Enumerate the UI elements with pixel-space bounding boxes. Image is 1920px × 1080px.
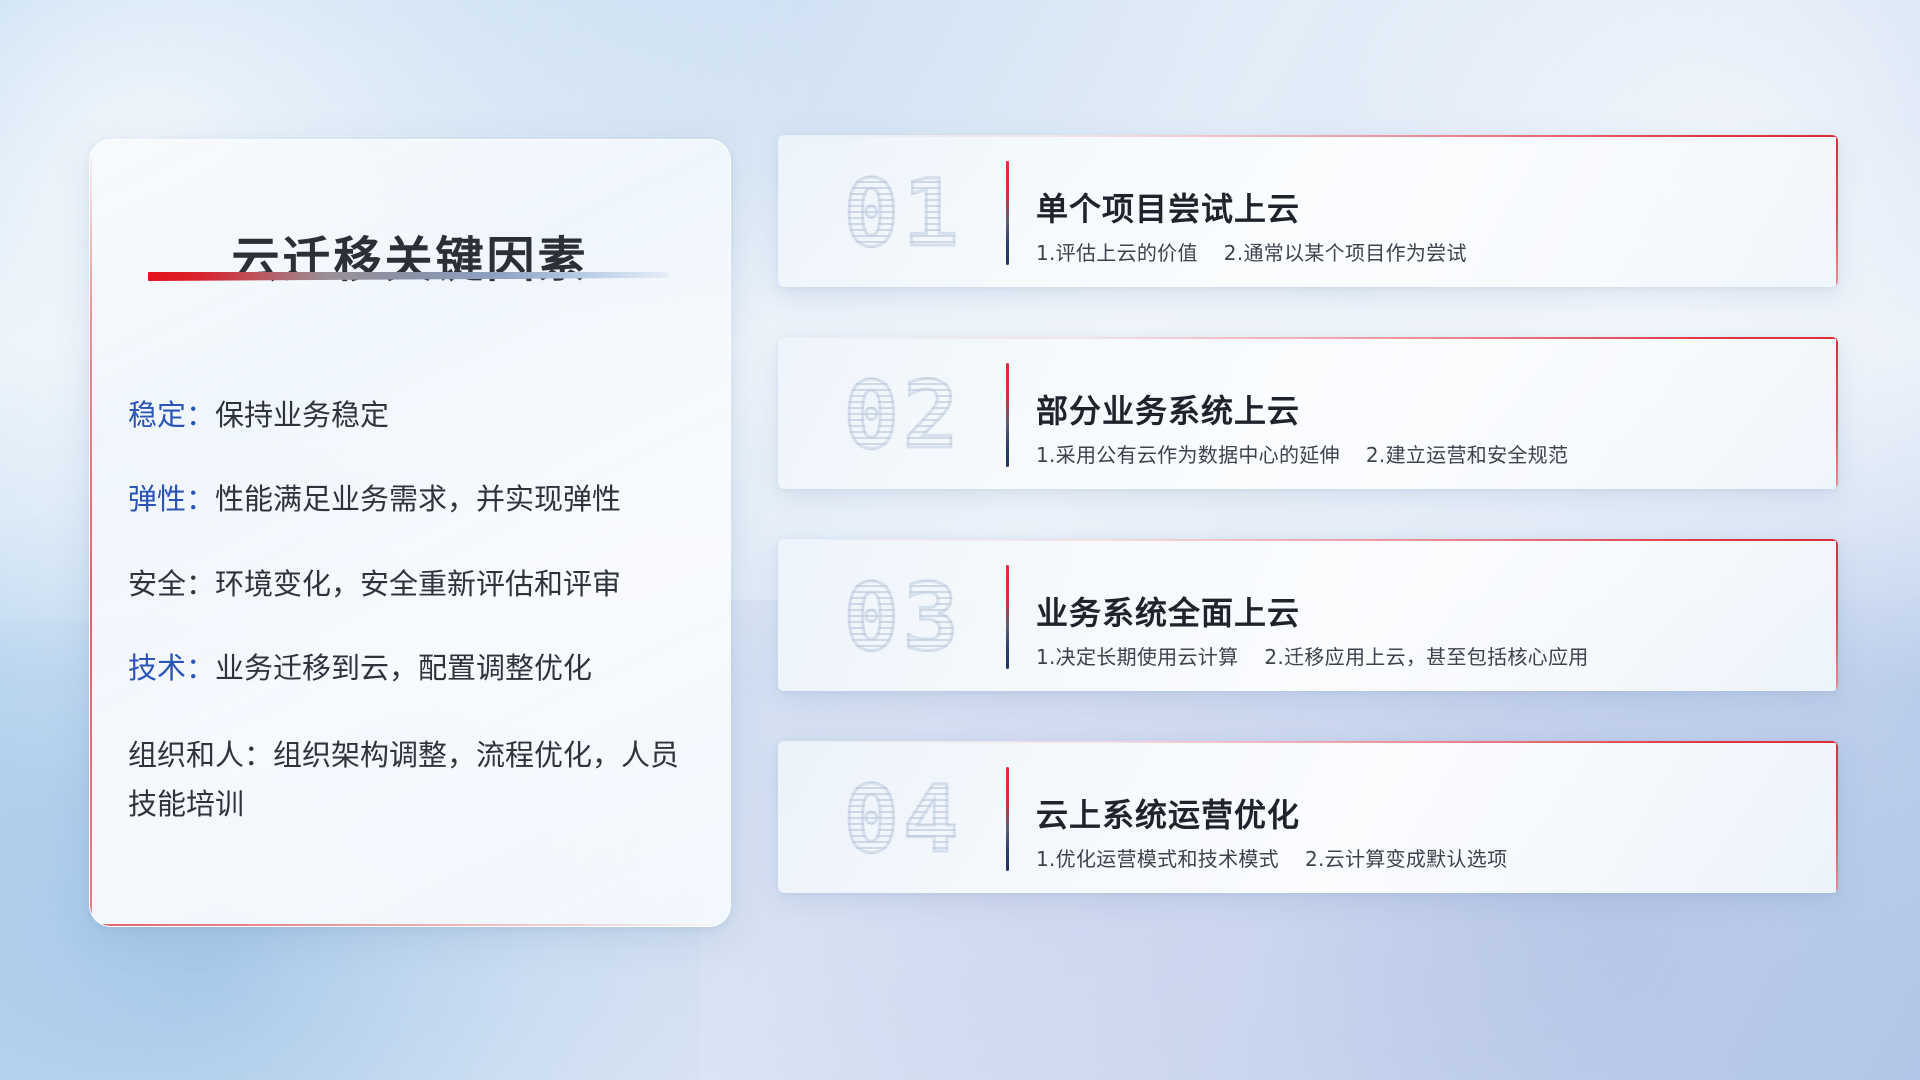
stage-number: 01: [808, 157, 998, 269]
stage-title: 单个项目尝试上云: [1036, 184, 1300, 230]
stage-divider-bar: [1006, 363, 1009, 467]
stage-point: 1.优化运营模式和技术模式: [1036, 847, 1279, 871]
key-factors-list: 稳定：保持业务稳定 弹性：性能满足业务需求，并实现弹性 安全：环境变化，安全重新…: [128, 365, 696, 871]
stage-number: 04: [808, 763, 998, 875]
stage-point: 2.通常以某个项目作为尝试: [1224, 241, 1467, 265]
migration-stages-list: 01 单个项目尝试上云 1.评估上云的价值2.通常以某个项目作为尝试 02 部分…: [778, 135, 1838, 943]
stage-card-03[interactable]: 03 业务系统全面上云 1.决定长期使用云计算2.迁移应用上云，甚至包括核心应用: [778, 539, 1838, 691]
stage-title: 云上系统运营优化: [1036, 790, 1300, 836]
list-item: 安全：环境变化，安全重新评估和评审: [128, 563, 696, 605]
stage-point: 1.采用公有云作为数据中心的延伸: [1036, 443, 1340, 467]
slide-stage: 云迁移关键因素 稳定：保持业务稳定 弹性：性能满足业务需求，并实现弹性 安全：环…: [0, 0, 1920, 1080]
stage-card-02[interactable]: 02 部分业务系统上云 1.采用公有云作为数据中心的延伸2.建立运营和安全规范: [778, 337, 1838, 489]
factor-label: 弹性：: [128, 482, 215, 516]
factor-text: 保持业务稳定: [215, 398, 389, 432]
key-factors-panel: 云迁移关键因素 稳定：保持业务稳定 弹性：性能满足业务需求，并实现弹性 安全：环…: [89, 139, 731, 927]
stage-point: 2.建立运营和安全规范: [1366, 443, 1568, 467]
list-item: 弹性：性能满足业务需求，并实现弹性: [128, 478, 696, 520]
stage-title: 部分业务系统上云: [1036, 386, 1300, 432]
stage-number: 03: [808, 561, 998, 673]
stage-description: 1.评估上云的价值2.通常以某个项目作为尝试: [1036, 237, 1808, 266]
list-item: 组织和人：组织架构调整，流程优化，人员技能培训: [128, 731, 696, 828]
factor-label: 技术：: [128, 651, 215, 685]
stage-point: 2.云计算变成默认选项: [1305, 847, 1507, 871]
stage-card-04[interactable]: 04 云上系统运营优化 1.优化运营模式和技术模式2.云计算变成默认选项: [778, 741, 1838, 893]
stage-divider-bar: [1006, 767, 1009, 871]
factor-text: 环境变化，安全重新评估和评审: [215, 567, 621, 601]
stage-point: 1.决定长期使用云计算: [1036, 645, 1238, 669]
stage-point: 2.迁移应用上云，甚至包括核心应用: [1264, 645, 1588, 669]
stage-description: 1.决定长期使用云计算2.迁移应用上云，甚至包括核心应用: [1036, 641, 1808, 670]
list-item: 技术：业务迁移到云，配置调整优化: [128, 647, 696, 689]
factor-label: 安全：: [128, 567, 215, 601]
stage-divider-bar: [1006, 161, 1009, 265]
stage-title: 业务系统全面上云: [1036, 588, 1300, 634]
stage-description: 1.采用公有云作为数据中心的延伸2.建立运营和安全规范: [1036, 439, 1808, 468]
list-item: 稳定：保持业务稳定: [128, 394, 696, 436]
stage-number: 02: [808, 359, 998, 471]
factor-label: 组织和人：: [128, 738, 273, 772]
stage-description: 1.优化运营模式和技术模式2.云计算变成默认选项: [1036, 843, 1808, 872]
stage-card-01[interactable]: 01 单个项目尝试上云 1.评估上云的价值2.通常以某个项目作为尝试: [778, 135, 1838, 287]
stage-point: 1.评估上云的价值: [1036, 241, 1198, 265]
factor-label: 稳定：: [128, 398, 215, 432]
factor-text: 业务迁移到云，配置调整优化: [215, 651, 592, 685]
factor-text: 性能满足业务需求，并实现弹性: [215, 482, 621, 516]
stage-divider-bar: [1006, 565, 1009, 669]
